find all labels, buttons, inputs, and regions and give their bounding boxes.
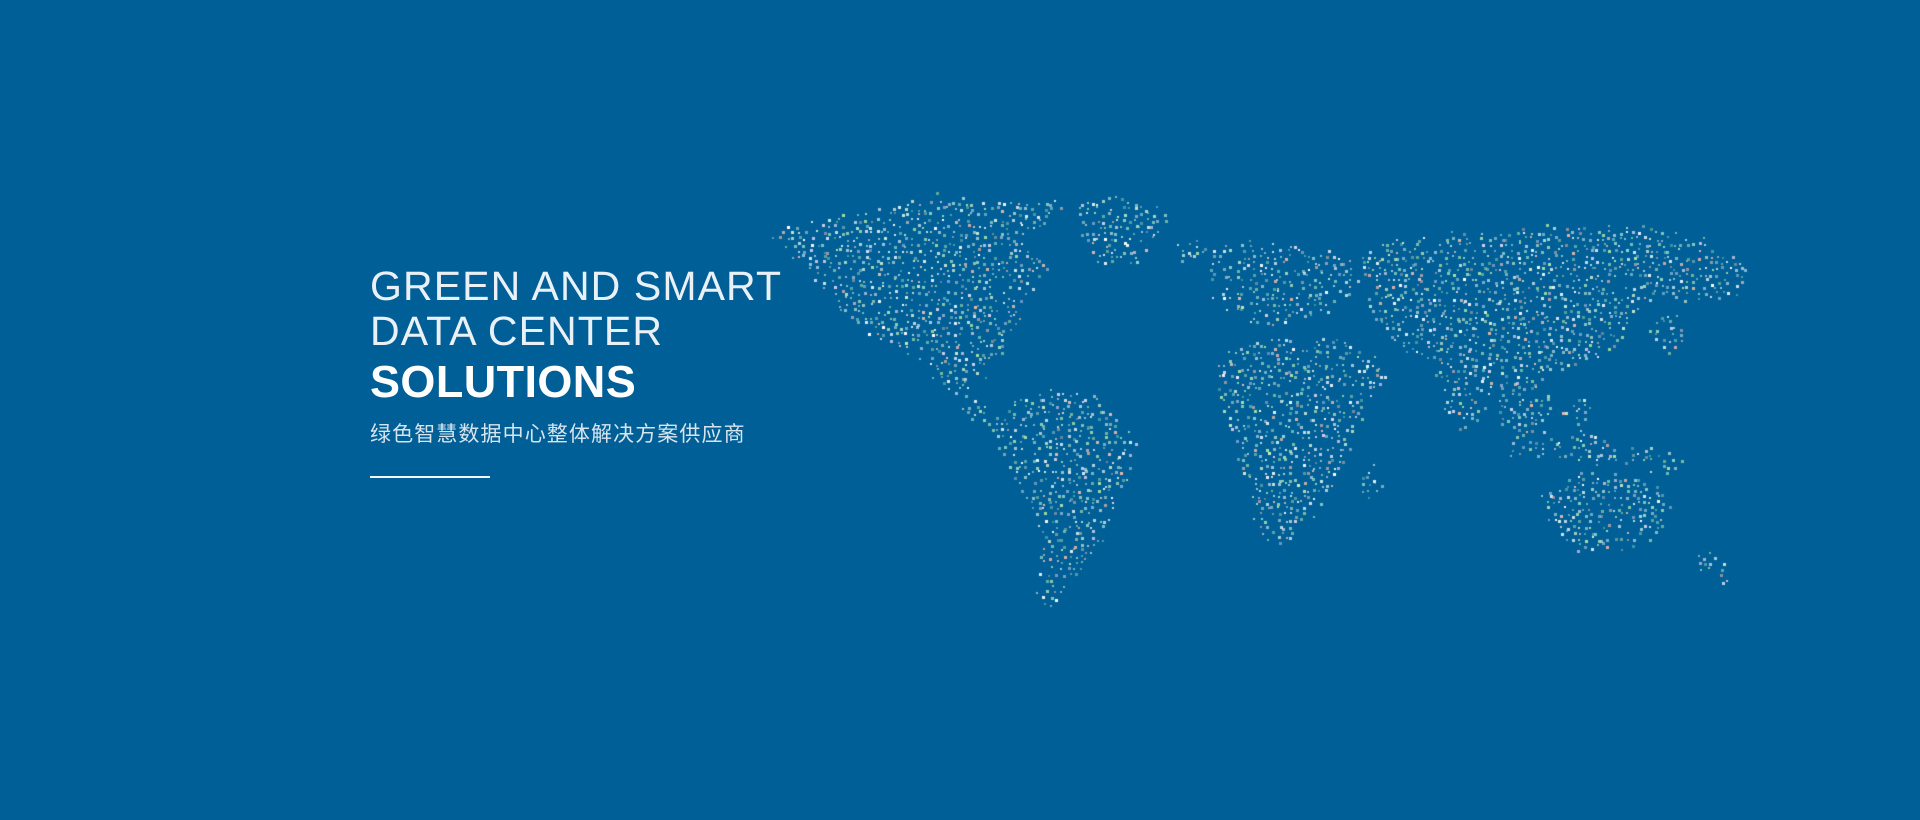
divider-rule bbox=[370, 476, 490, 478]
hero-banner: GREEN AND SMART DATA CENTER SOLUTIONS 绿色… bbox=[0, 0, 1920, 820]
headline-line-1: GREEN AND SMART bbox=[370, 264, 1130, 309]
headline-line-3: SOLUTIONS bbox=[370, 356, 1130, 408]
hero-text-block: GREEN AND SMART DATA CENTER SOLUTIONS 绿色… bbox=[370, 264, 1130, 478]
hero-subtitle-chinese: 绿色智慧数据中心整体解决方案供应商 bbox=[370, 421, 1130, 449]
headline-line-2: DATA CENTER bbox=[370, 309, 1130, 354]
